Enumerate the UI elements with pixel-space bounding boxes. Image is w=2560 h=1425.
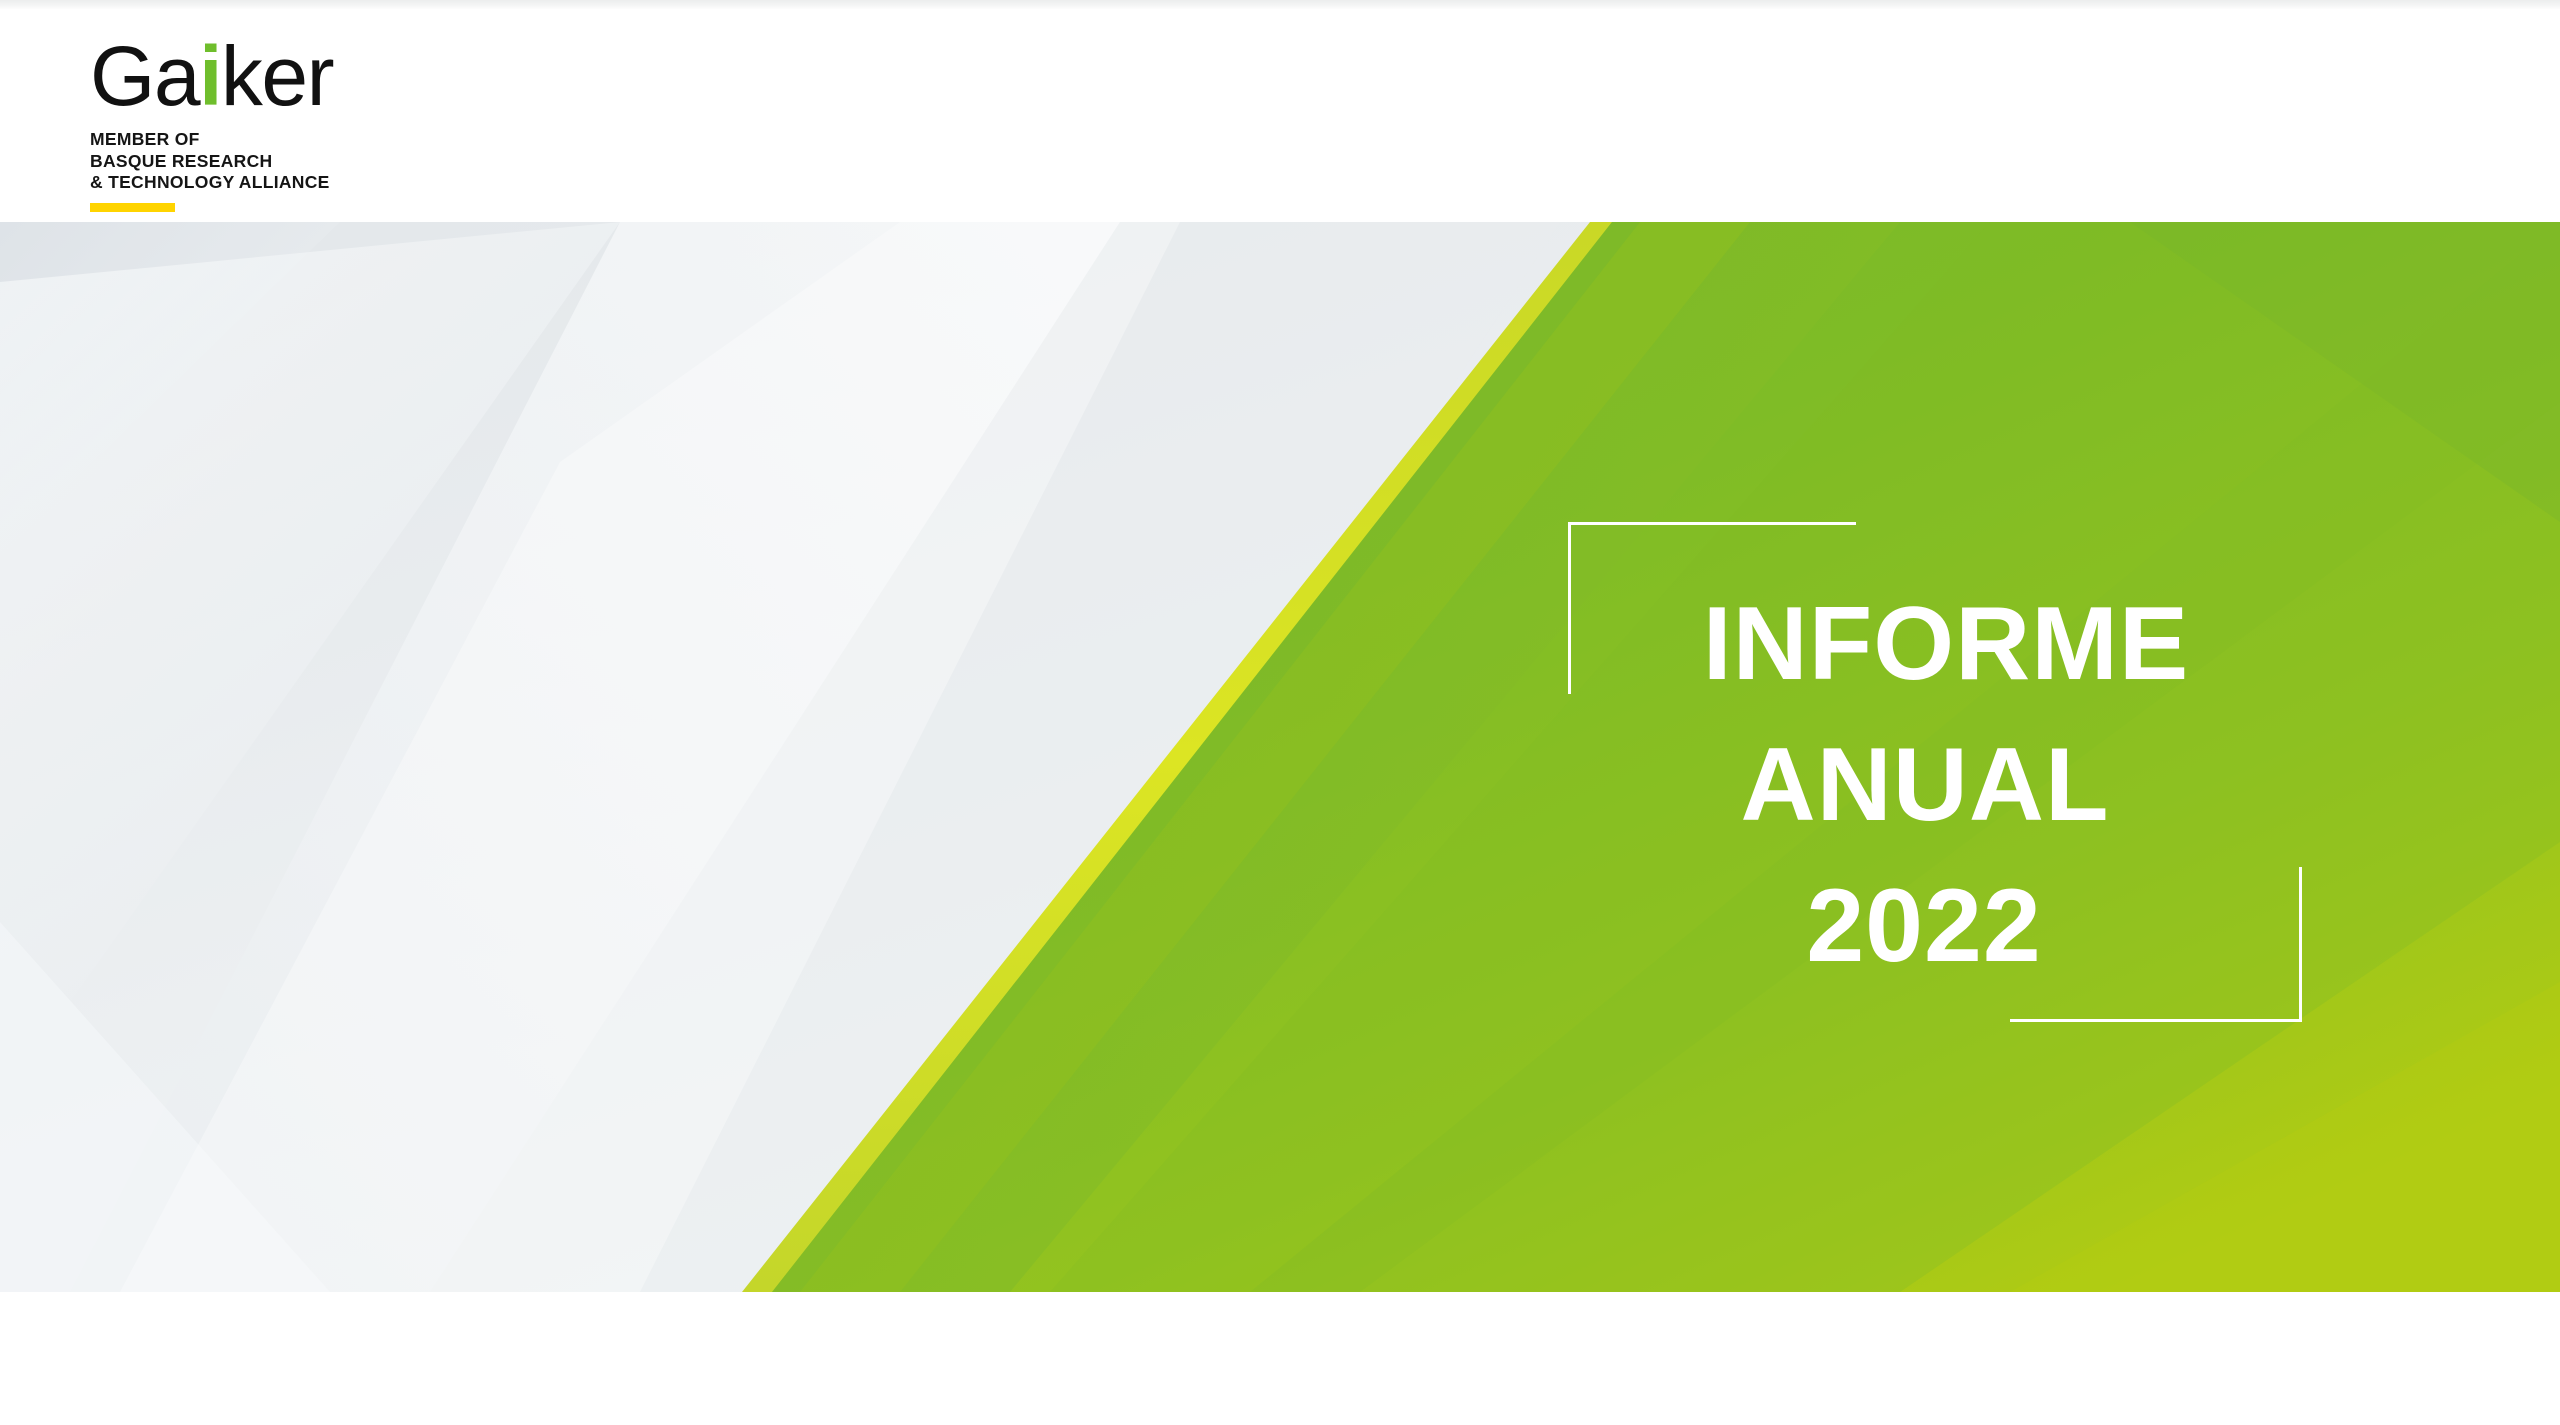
logo-yellow-underline (90, 203, 175, 212)
logo-wordmark-accent-i: i (199, 29, 221, 123)
logo-member-line-2: BASQUE RESEARCH (90, 151, 430, 173)
hero-banner: INFORME ANUAL 2022 (0, 222, 2560, 1292)
logo-member-line-3: & TECHNOLOGY ALLIANCE (90, 172, 430, 194)
logo-wordmark: Gaiker (90, 31, 430, 123)
logo-member-line-1: MEMBER OF (90, 129, 430, 151)
cover-page: Gaiker MEMBER OF BASQUE RESEARCH & TECHN… (0, 0, 2560, 1425)
top-edge-strip (0, 0, 2560, 9)
logo-member-text: MEMBER OF BASQUE RESEARCH & TECHNOLOGY A… (90, 129, 430, 194)
page-header: Gaiker MEMBER OF BASQUE RESEARCH & TECHN… (0, 9, 2560, 222)
logo-wordmark-before: Ga (90, 29, 199, 123)
hero-background-graphic (0, 222, 2560, 1292)
logo-wordmark-after: ker (221, 29, 333, 123)
footer-whitespace (0, 1292, 2560, 1425)
gaiker-logo[interactable]: Gaiker MEMBER OF BASQUE RESEARCH & TECHN… (90, 31, 430, 212)
